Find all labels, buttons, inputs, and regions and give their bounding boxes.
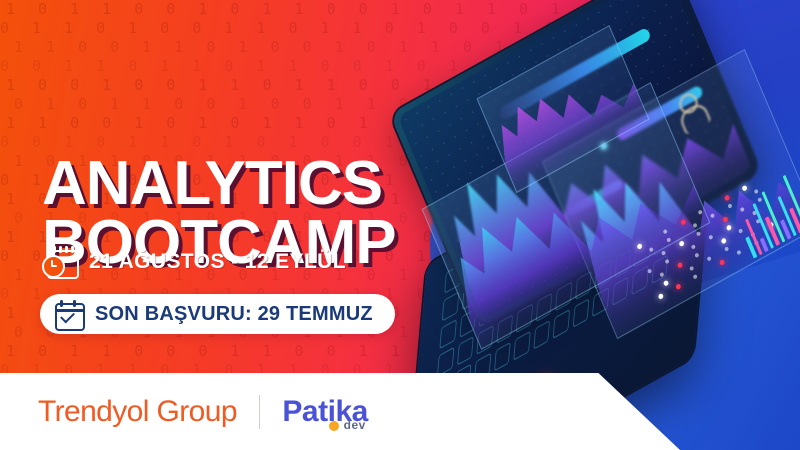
scatter-dot xyxy=(708,234,713,240)
scatter-dot xyxy=(693,274,698,280)
scatter-dot xyxy=(649,247,654,253)
patika-dev-suffix: dev xyxy=(344,418,366,432)
scatter-dot xyxy=(724,246,729,252)
scatter-dot xyxy=(665,259,670,265)
patika-dev-logo[interactable]: Patika dev xyxy=(282,395,367,429)
scatter-dot xyxy=(736,250,741,256)
scatter-dot xyxy=(663,280,669,287)
event-date-text: 21 AĞUSTOS - 12 EYLÜL xyxy=(89,250,346,274)
calendar-clock-icon xyxy=(42,246,76,278)
scatter-dot xyxy=(661,250,666,256)
patika-dot-icon xyxy=(329,421,339,431)
scatter-dot xyxy=(677,262,683,269)
scatter-dot xyxy=(680,219,686,226)
scatter-dot xyxy=(691,244,696,250)
scatter-dot xyxy=(721,237,727,244)
trendyol-group-logo[interactable]: Trendyol Group xyxy=(38,395,237,429)
deadline-text: SON BAŞVURU: 29 TEMMUZ xyxy=(95,303,373,326)
scatter-dot xyxy=(696,231,701,237)
event-date-row: 21 AĞUSTOS - 12 EYLÜL xyxy=(42,246,346,278)
scatter-dot xyxy=(722,216,728,223)
scatter-dot xyxy=(675,283,681,290)
scatter-dot xyxy=(636,243,642,250)
scatter-dot xyxy=(692,223,697,229)
scatter-dot xyxy=(689,266,694,272)
scatter-dot xyxy=(647,268,652,274)
calendar-check-icon xyxy=(54,300,82,328)
scatter-dot xyxy=(726,224,732,231)
scatter-dot xyxy=(658,293,664,300)
scatter-dot xyxy=(719,259,725,266)
scatter-dot xyxy=(707,256,712,262)
scatter-dot xyxy=(659,272,664,278)
promo-banner: 1 0 1 1 0 0 1 0 1 1 0 0 1 0 1 1 0 1 0 0 … xyxy=(0,0,800,450)
scatter-dot xyxy=(666,237,671,243)
scatter-dot xyxy=(698,209,703,215)
logo-divider xyxy=(259,395,261,429)
scatter-dot xyxy=(694,252,699,258)
scatter-dot xyxy=(710,213,715,219)
scatter-dot xyxy=(679,240,685,247)
scatter-dot xyxy=(663,229,668,235)
footer-logo-bar: Trendyol Group Patika dev xyxy=(0,373,680,450)
deadline-badge[interactable]: SON BAŞVURU: 29 TEMMUZ xyxy=(40,294,395,334)
